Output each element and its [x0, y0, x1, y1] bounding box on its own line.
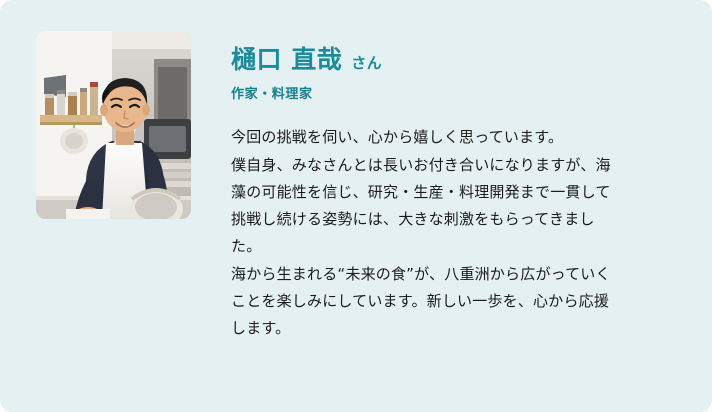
message-line: 海から生まれる“未来の食”が、八重洲から広がっていく	[231, 265, 611, 283]
profile-name-row: 樋口 直哉 さん	[231, 44, 671, 75]
profile-role: 作家・料理家	[231, 83, 671, 102]
message-line: 挑戦し続ける姿勢には、大きな刺激をもらってきまし	[231, 210, 595, 228]
message-line: 僕自身、みなさんとは長いお付き合いになりますが、海	[231, 156, 611, 174]
profile-name: 樋口 直哉	[231, 44, 342, 75]
message-line: た。	[231, 237, 261, 255]
message-paragraph-2: 海から生まれる“未来の食”が、八重洲から広がっていく ことを楽しみにしています。…	[231, 261, 631, 343]
profile-content: 樋口 直哉 さん 作家・料理家 今回の挑戦を伺い、心から嬉しく思っています。 僕…	[231, 44, 671, 343]
message-line: ことを楽しみにしています。新しい一歩を、心から応援	[231, 292, 609, 310]
message-line: します。	[231, 319, 290, 337]
message-line: 今回の挑戦を伺い、心から嬉しく思っています。	[231, 128, 563, 146]
profile-name-suffix: さん	[351, 52, 382, 73]
testimonial-card: 樋口 直哉 さん 作家・料理家 今回の挑戦を伺い、心から嬉しく思っています。 僕…	[0, 0, 712, 412]
message-line: 藻の可能性を信じ、研究・生産・料理開発まで一貫して	[231, 183, 611, 201]
testimonial-message: 今回の挑戦を伺い、心から嬉しく思っています。 僕自身、みなさんとは長いお付き合い…	[231, 124, 631, 342]
profile-photo-image	[36, 31, 191, 219]
profile-photo	[36, 31, 191, 219]
message-paragraph-1: 今回の挑戦を伺い、心から嬉しく思っています。 僕自身、みなさんとは長いお付き合い…	[231, 124, 631, 260]
